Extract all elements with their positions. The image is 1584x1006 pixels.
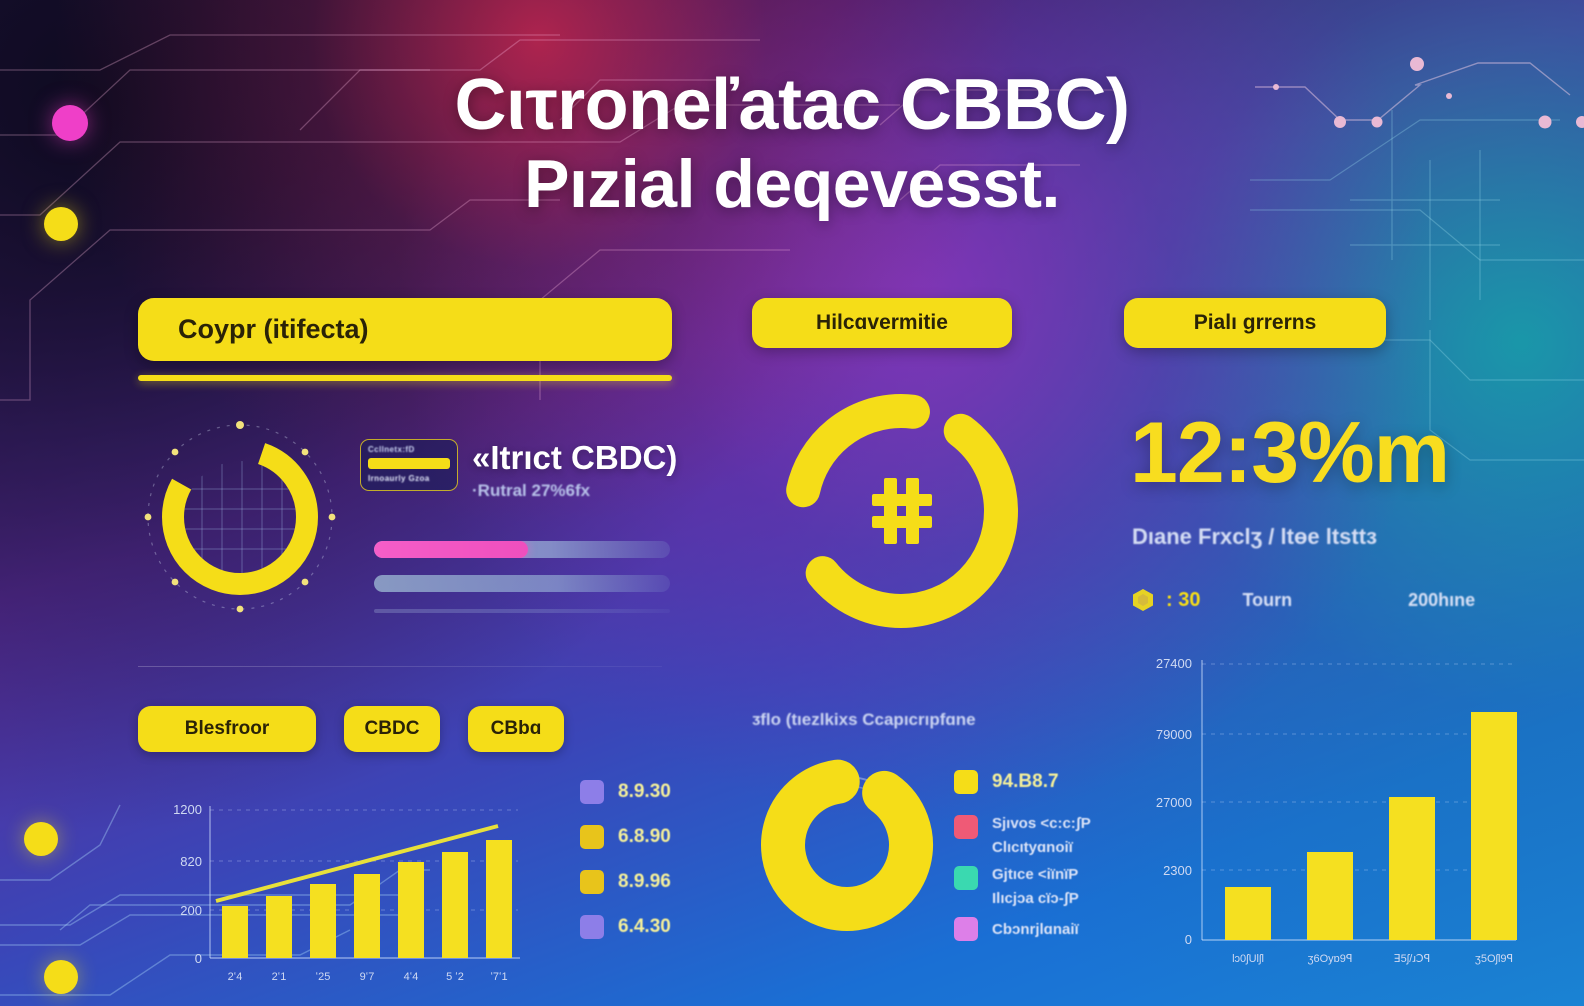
legend-sublabel: Clıcıtyɑnoiï [992, 839, 1091, 856]
chart-mid-donut [752, 750, 942, 940]
chip-cbba[interactable]: CBbɑ [468, 706, 564, 752]
legend-item: 6.8.90 [580, 825, 671, 849]
hexagon-icon [1132, 588, 1154, 612]
legend-label: Cbɔnrjlɑnaiï [992, 921, 1079, 938]
legend-swatch [954, 815, 978, 839]
legend-swatch [954, 866, 978, 890]
left-progress-bars [374, 541, 670, 630]
legend-item: Cbɔnrjlɑnaiï [954, 917, 1091, 941]
svg-text:ꓱ5ʃ/ɹꓛꟼ: ꓱ5ʃ/ɹꓛꟼ [1394, 953, 1431, 965]
hash-glyph [872, 478, 932, 544]
svg-text:820: 820 [180, 854, 202, 869]
left-panel-header[interactable]: Coypr (itifecta) [138, 298, 672, 361]
mini-card-bar [368, 458, 450, 469]
svg-text:9ʻ7: 9ʻ7 [360, 971, 375, 983]
legend-left-chart: 8.9.30 6.8.90 8.9.96 6.4.30 [580, 780, 671, 960]
legend-swatch [580, 870, 604, 894]
svg-text:ʻ25: ʻ25 [316, 971, 331, 983]
svg-text:1200: 1200 [173, 802, 202, 817]
legend-item: 8.9.30 [580, 780, 671, 804]
legend-sublabel: Ilıcjɔa cïɔ-ʃP [992, 890, 1079, 907]
legend-swatch [954, 770, 978, 794]
legend-item: 6.4.30 [580, 915, 671, 939]
right-panel-header[interactable]: Pialı grrerns [1124, 298, 1386, 348]
svg-text:27000: 27000 [1156, 795, 1192, 810]
meta-mid-label: Tourn [1242, 590, 1292, 611]
progress-bar-blue[interactable] [374, 575, 670, 592]
svg-text:5 ʻ2: 5 ʻ2 [446, 971, 464, 983]
meta-end-label: 200hıne [1408, 590, 1475, 611]
right-big-stat: 12:3%m [1130, 404, 1449, 503]
svg-text:0: 0 [1185, 932, 1192, 947]
left-mini-card[interactable]: Ccllnetx:fD Irnoaurly Gzoa [360, 439, 458, 491]
legend-item: 94.B8.7 [954, 770, 1091, 794]
svg-text:79000: 79000 [1156, 727, 1192, 742]
legend-item: 8.9.96 [580, 870, 671, 894]
title-line-2: Pızial deqevesst. [0, 146, 1584, 224]
svg-text:2300: 2300 [1163, 863, 1192, 878]
panel-mid: Hilcɑvermitie ᴣflo (tıezlkixs Ccapıcrıpf… [752, 298, 1082, 348]
progress-bar-pink-fill [374, 541, 528, 558]
svg-text:4ʻ4: 4ʻ4 [404, 971, 419, 983]
svg-text:0: 0 [195, 951, 202, 966]
chart-left-bar-trend: 1200 820 200 0 2ʻ4 2ʻ1 ʻ25 [148, 788, 528, 993]
infographic-canvas: Cιτroneľatac CBBC) Pızial deqevesst. Coy… [0, 0, 1584, 1006]
progress-bar-pink[interactable] [374, 541, 670, 558]
svg-text:2ʻ1: 2ʻ1 [272, 971, 287, 983]
left-panel-divider [138, 666, 662, 667]
legend-label: 94.B8.7 [992, 771, 1059, 793]
right-stat-meta-row: : 30 Tourn 200hıne [1132, 588, 1475, 612]
legend-swatch [580, 780, 604, 804]
legend-mid-donut: 94.B8.7 Sjıvos <c:c:ʃP Clıcıtyɑnoiï Gjtı… [954, 770, 1091, 962]
svg-text:ʒ5Oʃl9ꟼ: ʒ5Oʃl9ꟼ [1475, 953, 1513, 965]
mid-chart-title: ᴣflo (tıezlkixs Ccapıcrıpfɑne [752, 710, 976, 730]
left-progress-ring [140, 417, 340, 617]
left-info-heading: «Itrıct CBDC) [472, 439, 677, 477]
legend-swatch [580, 915, 604, 939]
mini-card-bottom-text: Irnoaurly Gzoa [368, 474, 450, 483]
svg-text:lɔ0ʃUlʃl: lɔ0ʃUlʃl [1232, 953, 1264, 965]
decorative-dot-yellow-mid [24, 822, 58, 856]
progress-bar-ghost [374, 609, 670, 613]
svg-text:200: 200 [180, 903, 202, 918]
svg-text:ʻ7ʻ1: ʻ7ʻ1 [490, 971, 507, 983]
mini-card-top-text: Ccllnetx:fD [368, 445, 450, 454]
legend-label: 6.4.30 [618, 916, 671, 938]
chip-blesfroor[interactable]: Blesfroor [138, 706, 316, 752]
legend-label: Sjıvos <c:c:ʃP [992, 815, 1091, 832]
page-title: Cιτroneľatac CBBC) Pızial deqevesst. [0, 64, 1584, 224]
mid-panel-header[interactable]: Hilcɑvermitie [752, 298, 1012, 348]
legend-label: 8.9.96 [618, 871, 671, 893]
legend-swatch [954, 917, 978, 941]
left-panel-body: Ccllnetx:fD Irnoaurly Gzoa «Itrıct CBDC)… [138, 417, 672, 627]
legend-label: 6.8.90 [618, 826, 671, 848]
right-stat-subtext: Dıane Frxclʒ / ltɵe ltsttɜ [1132, 524, 1377, 550]
mid-hash-ring [776, 386, 1026, 636]
title-line-1: Cιτroneľatac CBBC) [0, 64, 1584, 146]
left-chip-row: Blesfroor CBDC CBbɑ [138, 706, 564, 752]
legend-item: Sjıvos <c:c:ʃP Clıcıtyɑnoiï [954, 815, 1091, 856]
legend-item: Gjtıce <iïnïP Ilıcjɔa cïɔ-ʃP [954, 866, 1091, 907]
left-info-subtext: ·Rutral 27%6fx [472, 481, 590, 501]
svg-text:ʒ6Oyɒ9ꟼ: ʒ6Oyɒ9ꟼ [1307, 953, 1352, 965]
legend-swatch [580, 825, 604, 849]
legend-label: 8.9.30 [618, 781, 671, 803]
legend-label: Gjtıce <iïnïP [992, 866, 1079, 883]
left-panel-underline [138, 375, 672, 381]
chip-cbdc[interactable]: CBDC [344, 706, 440, 752]
panel-left: Coypr (itifecta) [138, 298, 672, 627]
meta-value: : 30 [1166, 589, 1200, 612]
decorative-dot-yellow-bottom [44, 960, 78, 994]
svg-text:2ʻ4: 2ʻ4 [228, 971, 243, 983]
svg-text:27400: 27400 [1156, 656, 1192, 671]
panel-right: Pialı grrerns 12:3%m Dıane Frxclʒ / ltɵe… [1124, 298, 1464, 348]
chart-right-bar: 27400 79000 27000 2300 0 lɔ0ʃUlʃl ʒ6Oyɒ9… [1118, 640, 1518, 975]
